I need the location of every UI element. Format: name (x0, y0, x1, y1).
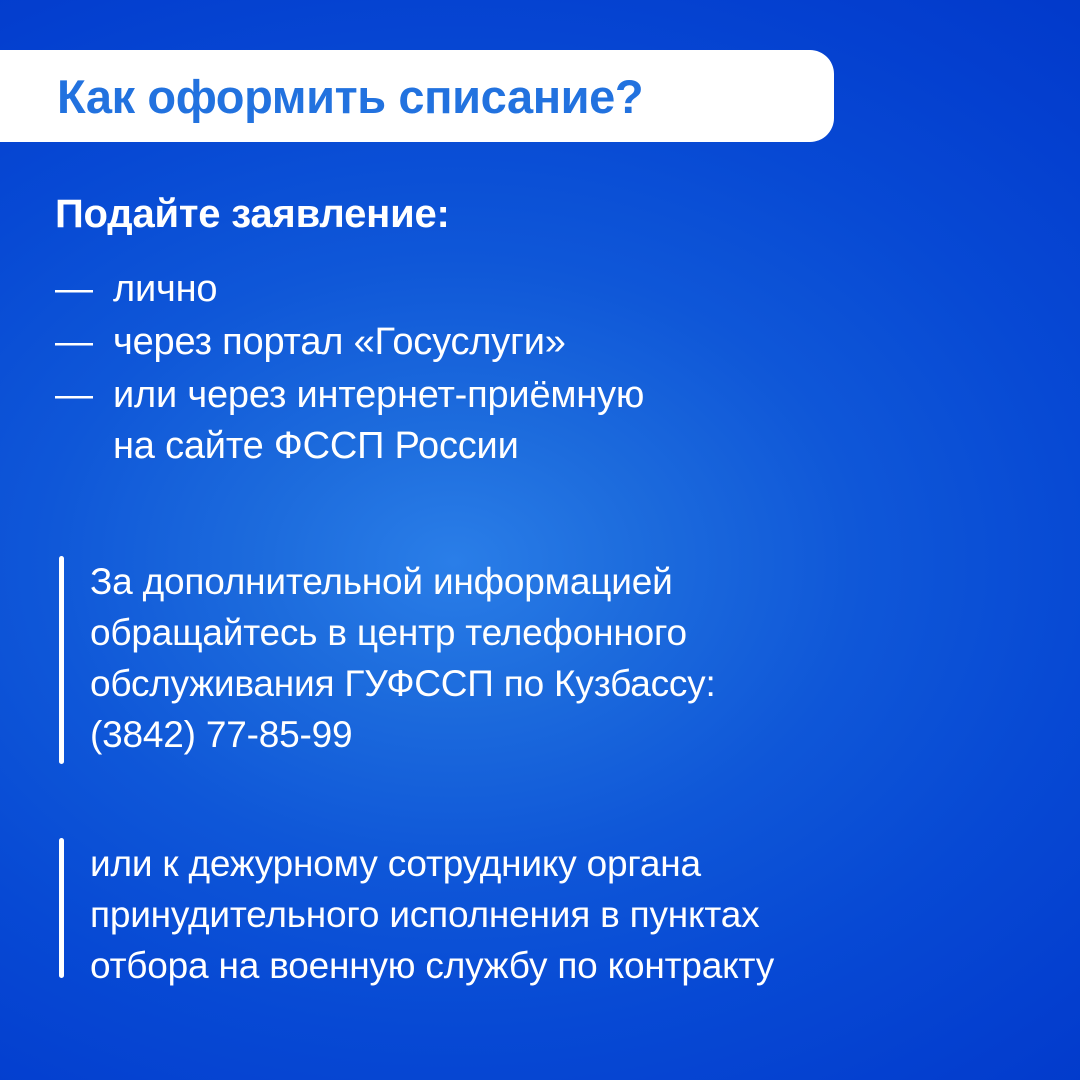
duty-officer-text: или к дежурному сотруднику органа принуд… (90, 838, 774, 978)
quote-bar (59, 838, 64, 978)
quote-line: обращайтесь в центр телефонного (90, 607, 716, 658)
quote-bar (59, 556, 64, 764)
list-item-label: лично (113, 268, 217, 310)
list-item-label: или через интернет-приёмную (113, 374, 644, 416)
quote-line: отбора на военную службу по контракту (90, 940, 774, 991)
poster-canvas: Как оформить списание? Подайте заявление… (0, 0, 1080, 1080)
section-subheading: Подайте заявление: (55, 192, 450, 237)
contact-info-block: За дополнительной информацией обращайтес… (59, 556, 716, 764)
list-item: — через портал «Госуслуги» (55, 317, 995, 368)
quote-line: обслуживания ГУФССП по Кузбассу: (90, 658, 716, 709)
list-item: — лично (55, 264, 995, 315)
quote-line: или к дежурному сотруднику органа (90, 838, 774, 889)
contact-info-text: За дополнительной информацией обращайтес… (90, 556, 716, 764)
duty-officer-block: или к дежурному сотруднику органа принуд… (59, 838, 774, 978)
em-dash-icon: — (55, 264, 113, 315)
page-title: Как оформить списание? (57, 69, 643, 124)
application-methods-list: — лично — через портал «Госуслуги» — или… (55, 264, 995, 474)
title-banner: Как оформить списание? (0, 50, 834, 142)
em-dash-icon: — (55, 370, 113, 421)
list-item-label: через портал «Госуслуги» (113, 321, 566, 363)
quote-line: За дополнительной информацией (90, 556, 716, 607)
quote-line: принудительного исполнения в пунктах (90, 889, 774, 940)
list-item-label-continuation: на сайте ФССП России (113, 421, 995, 472)
list-item: — или через интернет-приёмную на сайте Ф… (55, 370, 995, 472)
phone-number: (3842) 77-85-99 (90, 709, 716, 760)
em-dash-icon: — (55, 317, 113, 368)
